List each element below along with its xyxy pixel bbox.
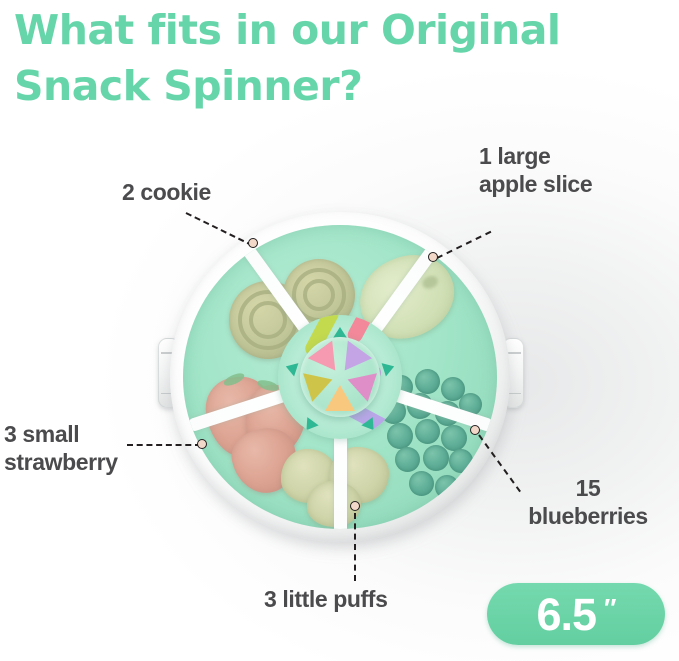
container-tray [183, 225, 497, 529]
callout-label-puffs: 3 little puffs [264, 585, 387, 613]
dial-marker-icon [301, 417, 319, 434]
leader-dot-apple-slice [428, 252, 438, 262]
page-title: What fits in our Original Snack Spinner? [14, 2, 674, 114]
blueberry-item [435, 475, 459, 499]
size-badge: 6.5 ″ [487, 583, 665, 645]
blueberry-item [415, 369, 440, 394]
spinner-knob[interactable] [300, 337, 380, 417]
dial-marker-icon [382, 360, 397, 377]
callout-label-cookie: 2 cookie [122, 178, 211, 206]
callout-label-apple-slice: 1 large apple slice [479, 142, 592, 198]
snack-spinner-product-image [152, 196, 528, 556]
leader-line-strawberry [127, 444, 201, 446]
blueberry-item [415, 419, 440, 444]
dial-marker-icon [284, 360, 299, 377]
blueberry-item [449, 449, 473, 473]
callout-label-blueberries: 15 blueberries [508, 474, 668, 530]
size-badge-value: 6.5 [536, 592, 596, 637]
leader-dot-blueberries [470, 425, 480, 435]
size-badge-unit: ″ [604, 595, 615, 621]
blueberry-item [441, 425, 467, 451]
leader-dot-cookie [248, 238, 258, 248]
leader-dot-puffs [350, 501, 360, 511]
blueberry-item [423, 445, 449, 471]
infographic-page: What fits in our Original Snack Spinner? [0, 0, 679, 661]
blueberry-item [395, 447, 420, 472]
blueberry-item [409, 471, 434, 496]
spinner-dial-ring[interactable] [278, 315, 402, 439]
leader-dot-strawberry [197, 439, 207, 449]
leader-line-puffs [354, 513, 356, 581]
callout-label-strawberry: 3 small strawberry [4, 420, 118, 476]
